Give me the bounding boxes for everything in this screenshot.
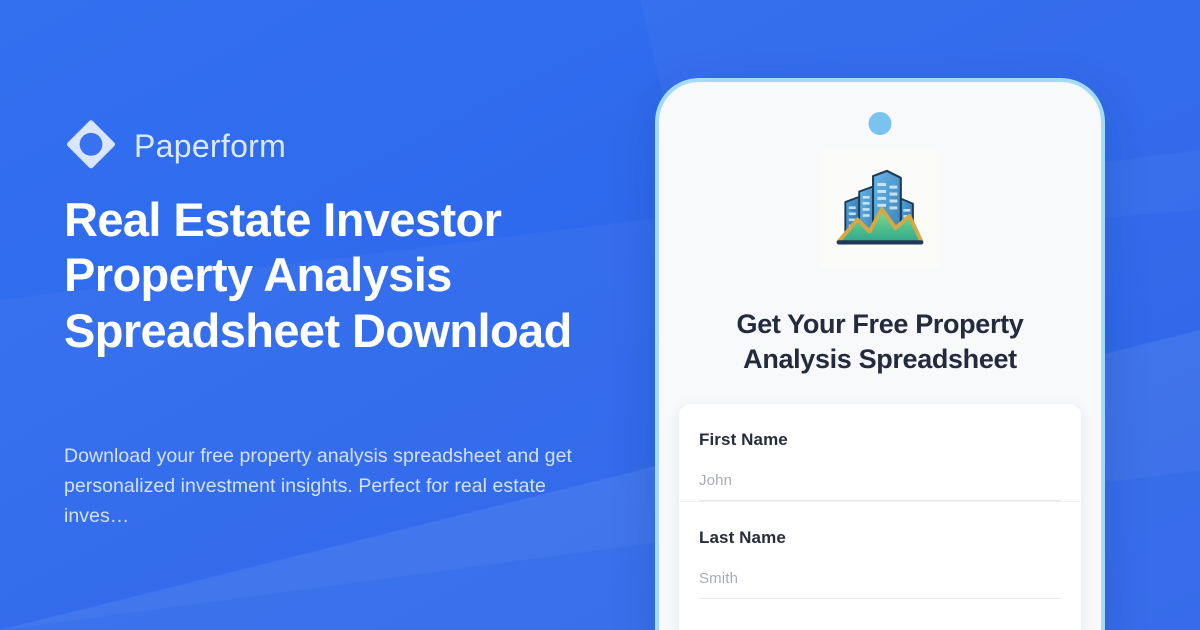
form-field-first-name: First Name John bbox=[679, 404, 1081, 502]
brand-logo: Paperform bbox=[64, 116, 286, 176]
phone-mockup: Get Your Free Property Analysis Spreadsh… bbox=[655, 78, 1105, 630]
og-image-canvas: Paperform Real Estate Investor Property … bbox=[0, 0, 1200, 630]
form-heading: Get Your Free Property Analysis Spreadsh… bbox=[685, 307, 1075, 377]
page-title: Real Estate Investor Property Analysis S… bbox=[64, 192, 584, 358]
front-camera-dot bbox=[869, 112, 892, 135]
last-name-input[interactable]: Smith bbox=[699, 570, 1061, 599]
hero-left-column: Paperform Real Estate Investor Property … bbox=[64, 0, 624, 630]
first-name-input[interactable]: John bbox=[699, 472, 1061, 501]
brand-wordmark: Paperform bbox=[134, 130, 286, 162]
lead-capture-form: First Name John Last Name Smith bbox=[679, 404, 1081, 630]
last-name-label: Last Name bbox=[699, 528, 1061, 548]
form-field-last-name: Last Name Smith bbox=[679, 502, 1081, 599]
form-hero-image bbox=[820, 149, 940, 269]
first-name-label: First Name bbox=[699, 430, 1061, 450]
city-buildings-chart-icon bbox=[828, 157, 932, 261]
paperform-star-logo-icon bbox=[64, 116, 118, 176]
page-subtitle: Download your free property analysis spr… bbox=[64, 441, 574, 531]
